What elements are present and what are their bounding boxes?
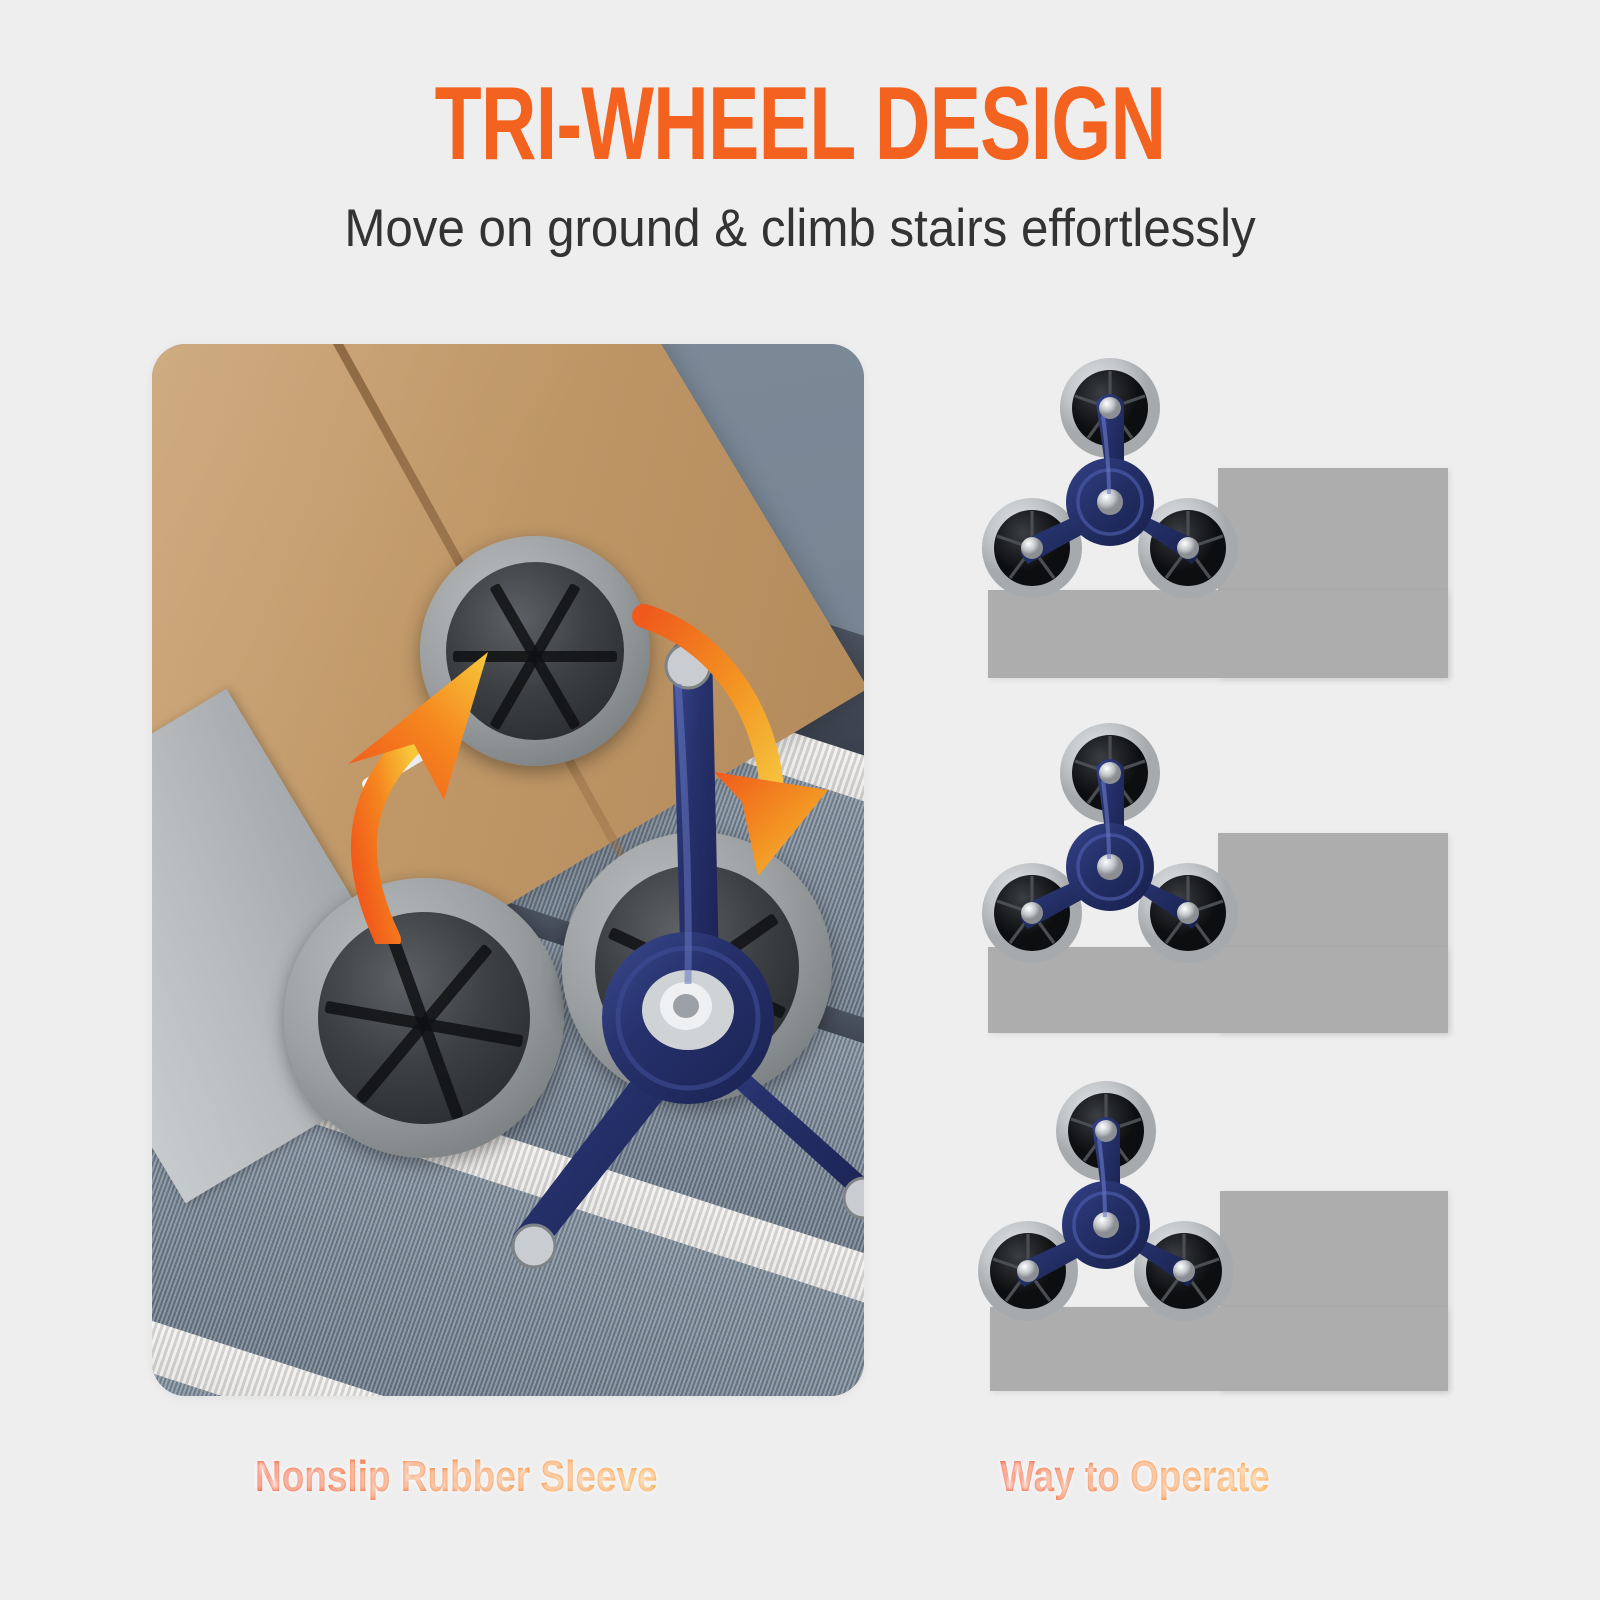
product-photo-card	[152, 344, 864, 1396]
tri-wheel-assembly	[966, 1073, 1246, 1323]
caption-nonslip-rubber-sleeve: Nonslip Rubber Sleeve	[255, 1452, 658, 1502]
tri-wheel-assembly	[970, 350, 1250, 600]
operate-step-1	[950, 350, 1470, 680]
arrow-up-left-icon	[292, 624, 552, 944]
page-title: TRI-WHEEL DESIGN	[208, 0, 1392, 176]
arrow-down-right-icon	[622, 594, 864, 884]
tri-wheel-assembly	[970, 715, 1250, 965]
operate-step-3	[930, 1065, 1470, 1405]
page-subtitle: Move on ground & climb stairs effortless…	[56, 176, 1544, 259]
lower-step-block	[988, 590, 1448, 678]
caption-way-to-operate: Way to Operate	[1000, 1452, 1270, 1502]
header: TRI-WHEEL DESIGN Move on ground & climb …	[0, 0, 1600, 259]
operate-step-2	[950, 705, 1470, 1050]
